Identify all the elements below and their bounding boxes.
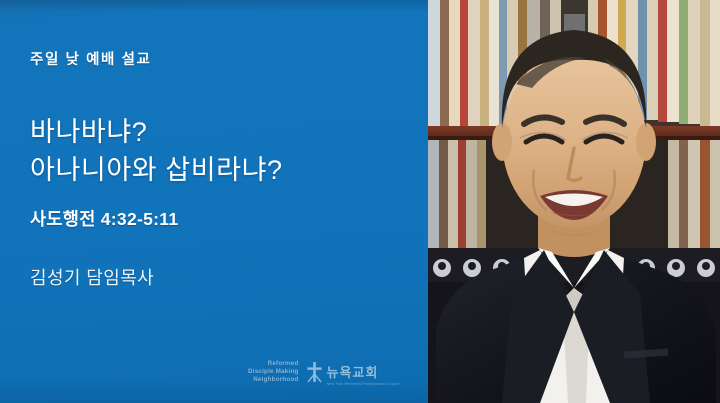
church-logo: Reformed Disciple Making Neighborhood 뉴욕… bbox=[248, 360, 378, 383]
service-kicker: 주일 낮 예배 설교 bbox=[30, 48, 151, 69]
pastor-portrait-photo bbox=[428, 0, 720, 403]
sermon-title-line-2: 아나니아와 삽비라냐? bbox=[30, 148, 283, 187]
logo-tagline: Reformed Disciple Making Neighborhood bbox=[248, 360, 299, 383]
panel-top-shade bbox=[0, 0, 428, 12]
church-name: 뉴욕교회 bbox=[327, 365, 379, 380]
portrait-photo bbox=[428, 0, 720, 403]
logo-tagline-line-3: Neighborhood bbox=[253, 376, 298, 384]
church-subline: New York Reformed Presbyterian Church bbox=[327, 382, 400, 386]
cross-icon bbox=[305, 361, 324, 383]
logo-tagline-line-2: Disciple Making bbox=[248, 368, 299, 376]
text-panel: 주일 낮 예배 설교 바나바냐? 아나니아와 삽비라냐? 사도행전 4:32-5… bbox=[0, 0, 428, 403]
sermon-slide: 주일 낮 예배 설교 바나바냐? 아나니아와 삽비라냐? 사도행전 4:32-5… bbox=[0, 0, 720, 403]
scripture-reference: 사도행전 4:32-5:11 bbox=[30, 206, 178, 231]
logo-tagline-line-1: Reformed bbox=[268, 360, 299, 368]
speaker-name: 김성기 담임목사 bbox=[30, 264, 154, 290]
sermon-title-line-1: 바나바냐? bbox=[30, 110, 147, 149]
logo-mark: 뉴욕교회 New York Reformed Presbyterian Chur… bbox=[305, 361, 379, 383]
